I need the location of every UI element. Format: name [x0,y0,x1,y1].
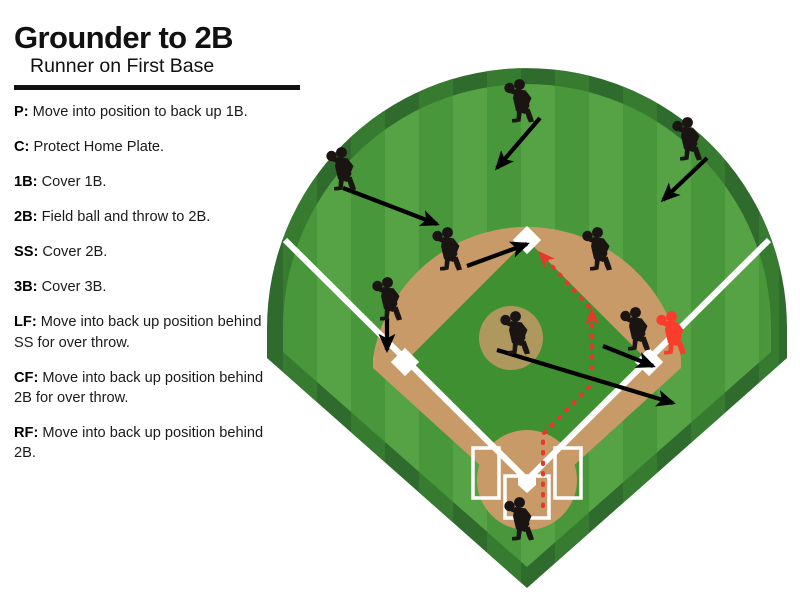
assignment-list: P: Move into position to back up 1B. C: … [14,102,284,464]
assignment-text-1b: Cover 1B. [38,174,107,190]
assignment-item-2b: 2B: Field ball and throw to 2B. [14,207,266,227]
position-label-1b: 1B: [14,174,38,190]
assignment-item-3b: 3B: Cover 3B. [14,277,266,297]
assignment-text-ss: Cover 2B. [38,244,107,260]
assignment-item-1b: 1B: Cover 1B. [14,172,266,192]
page-title: Grounder to 2B [14,22,284,54]
assignment-text-p: Move into position to back up 1B. [29,104,248,120]
position-label-c: C: [14,139,29,155]
assignment-text-rf: Move into back up position behind 2B. [14,425,263,461]
assignment-item-lf: LF: Move into back up position behind SS… [14,312,266,352]
assignment-item-c: C: Protect Home Plate. [14,137,266,157]
baseball-field-diagram [255,28,800,593]
assignment-text-2b: Field ball and throw to 2B. [38,209,211,225]
position-label-2b: 2B: [14,209,38,225]
assignment-text-3b: Cover 3B. [38,279,107,295]
position-label-cf: CF: [14,370,38,386]
assignment-item-ss: SS: Cover 2B. [14,242,266,262]
assignment-item-rf: RF: Move into back up position behind 2B… [14,423,266,463]
assignment-text-c: Protect Home Plate. [29,139,164,155]
position-label-p: P: [14,104,29,120]
play-diagram-page: Grounder to 2B Runner on First Base P: M… [0,0,800,600]
assignment-text-lf: Move into back up position behind SS for… [14,314,261,350]
assignment-item-cf: CF: Move into back up position behind 2B… [14,368,266,408]
page-subtitle: Runner on First Base [14,56,284,77]
position-label-ss: SS: [14,244,38,260]
position-label-3b: 3B: [14,279,38,295]
position-label-rf: RF: [14,425,38,441]
title-block: Grounder to 2B Runner on First Base [14,22,284,78]
assignment-item-p: P: Move into position to back up 1B. [14,102,266,122]
assignment-text-cf: Move into back up position behind 2B for… [14,370,263,406]
position-label-lf: LF: [14,314,37,330]
